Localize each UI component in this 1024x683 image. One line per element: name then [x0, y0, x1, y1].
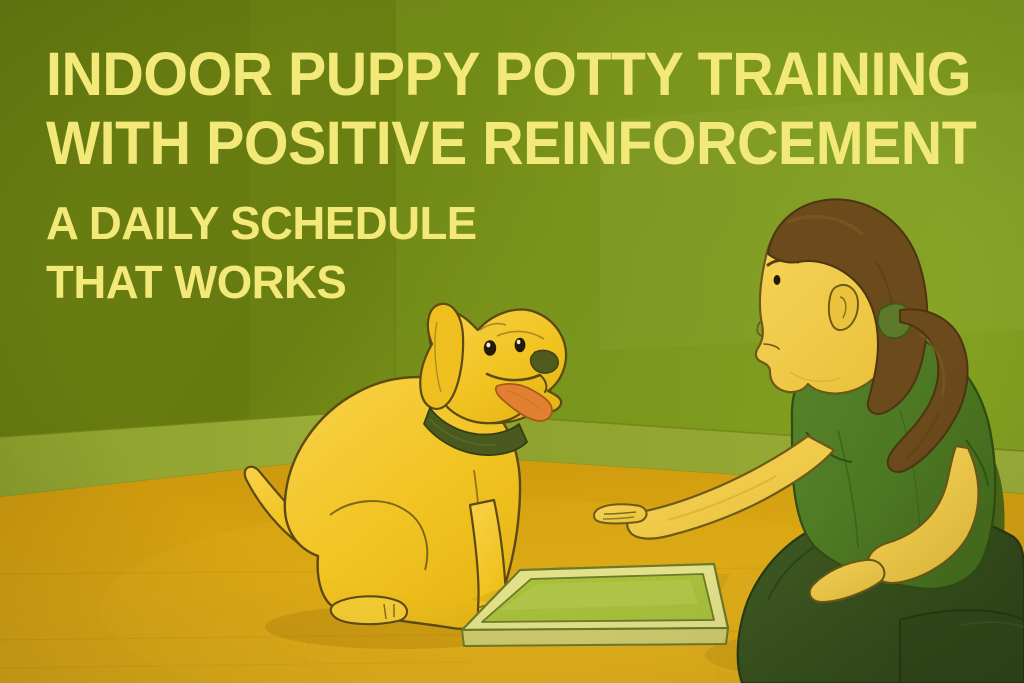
room-scene-illustration — [0, 0, 1024, 683]
illustration-banner: INDOOR PUPPY POTTY TRAINING WITH POSITIV… — [0, 0, 1024, 683]
vignette-overlay — [0, 0, 1024, 683]
